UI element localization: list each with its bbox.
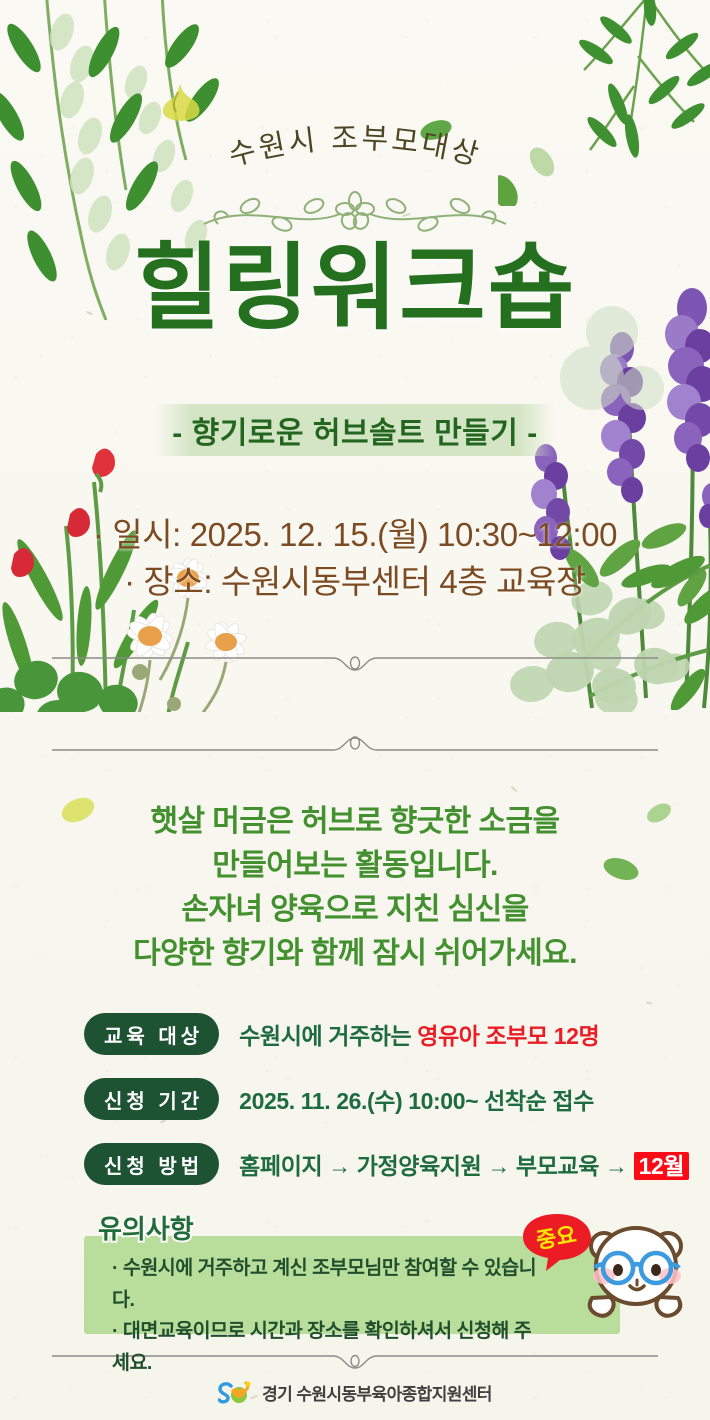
info-value-target: 수원시에 거주하는 영유아 조부모 12명 <box>239 1017 599 1051</box>
divider-top <box>52 648 658 672</box>
eyebrow-text: 수원시 조부모대상 <box>0 118 710 190</box>
center-logo-icon <box>218 1381 254 1405</box>
value-plain: 2025. 11. 26.(수) 10:00~ 선착순 접수 <box>239 1088 594 1114</box>
divider-second <box>52 734 658 758</box>
body-line: 만들어보는 활동입니다. <box>0 844 710 888</box>
value-plain: 홈페이지 → 가정양육지원 → 부모교육 → <box>239 1153 633 1179</box>
paper-fiber <box>646 1001 652 1004</box>
eyebrow-label: 수원시 조부모대상 <box>225 121 485 173</box>
notice-list: · 수원시에 거주하고 계신 조부모님만 참여할 수 있습니다. · 대면교육이… <box>112 1253 542 1379</box>
info-row-target: 교육 대상 수원시에 거주하는 영유아 조부모 12명 <box>84 1012 644 1056</box>
bear-mascot-icon <box>578 1214 696 1326</box>
footer: 경기 수원시동부육아종합지원센터 <box>0 1380 710 1405</box>
value-highlight-month: 12월 <box>634 1152 690 1180</box>
body-line: 햇살 머금은 허브로 향긋한 소금을 <box>0 800 710 844</box>
hero-section: 수원시 조부모대상 힐링워크숍 - 향 <box>0 0 710 712</box>
subtitle-wrap: - 향기로운 허브솔트 만들기 - <box>0 404 710 456</box>
flourish-divider <box>190 190 520 234</box>
notice-item: · 대면교육이므로 시간과 장소를 확인하셔서 신청해 주세요. <box>112 1316 542 1379</box>
meta-place: · 장소: 수원시동부센터 4층 교육장 <box>0 559 710 606</box>
notice-item: · 수원시에 거주하고 계신 조부모님만 참여할 수 있습니다. <box>112 1253 542 1316</box>
info-rows: 교육 대상 수원시에 거주하는 영유아 조부모 12명 신청 기간 2025. … <box>84 1012 644 1207</box>
subtitle-banner: - 향기로운 허브솔트 만들기 - <box>156 404 553 456</box>
info-value-period: 2025. 11. 26.(수) 10:00~ 선착순 접수 <box>239 1082 594 1116</box>
info-row-period: 신청 기간 2025. 11. 26.(수) 10:00~ 선착순 접수 <box>84 1077 644 1121</box>
body-line: 다양한 향기와 함께 잠시 쉬어가세요. <box>0 932 710 976</box>
important-badge: 중요 <box>520 1212 594 1272</box>
info-value-method: 홈페이지 → 가정양육지원 → 부모교육 → 12월 <box>239 1147 689 1181</box>
event-meta: · 일시: 2025. 12. 15.(월) 10:30~12:00 · 장소:… <box>0 512 710 606</box>
pill-label-target: 교육 대상 <box>84 1013 219 1055</box>
svg-text:수원시 조부모대상: 수원시 조부모대상 <box>225 121 485 173</box>
page-title: 힐링워크숍 <box>0 236 710 339</box>
pill-label-period: 신청 기간 <box>84 1078 219 1120</box>
value-plain: 수원시에 거주하는 <box>239 1023 417 1049</box>
notice-title: 유의사항 <box>98 1209 194 1246</box>
body-copy: 햇살 머금은 허브로 향긋한 소금을 만들어보는 활동입니다. 손자녀 양육으로… <box>0 800 710 976</box>
eyebrow-arc: 수원시 조부모대상 <box>145 114 565 194</box>
info-row-method: 신청 방법 홈페이지 → 가정양육지원 → 부모교육 → 12월 <box>84 1142 644 1186</box>
body-line: 손자녀 양육으로 지친 심신을 <box>0 888 710 932</box>
meta-date: · 일시: 2025. 12. 15.(월) 10:30~12:00 <box>0 512 710 559</box>
pill-label-method: 신청 방법 <box>84 1143 219 1185</box>
paper-fiber <box>510 786 517 793</box>
footer-org-name: 경기 수원시동부육아종합지원센터 <box>262 1380 492 1405</box>
value-emphasis: 영유아 조부모 12명 <box>417 1023 599 1049</box>
